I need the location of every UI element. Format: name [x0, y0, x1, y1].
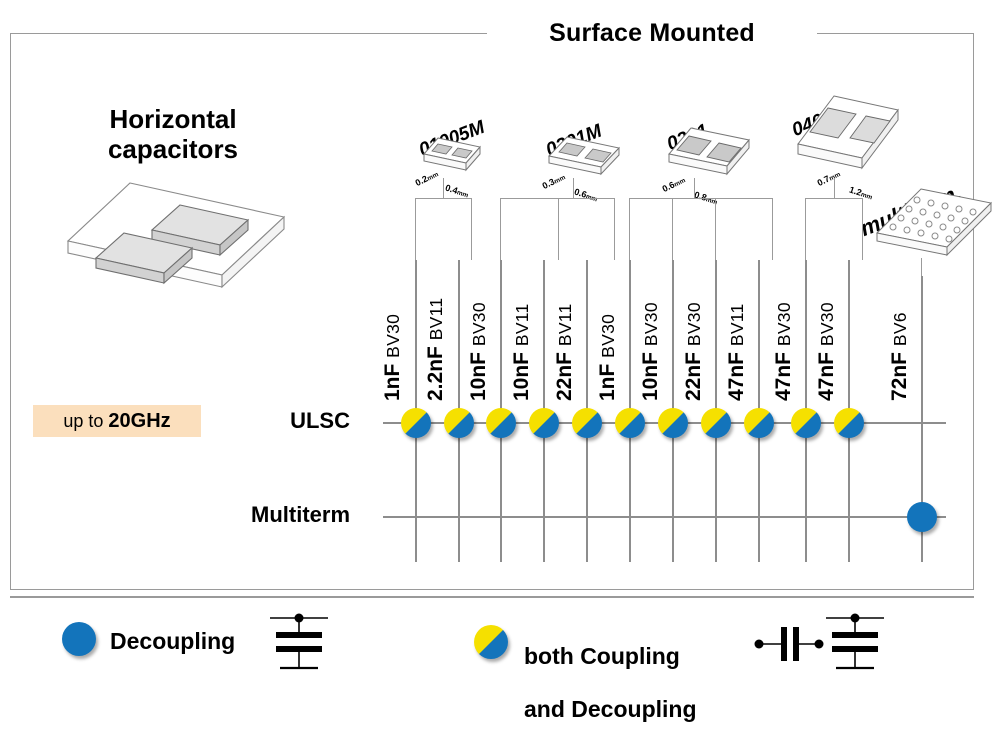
package-illustration-0201M: [545, 131, 629, 177]
legend-label-decoupling: Decoupling: [110, 628, 235, 654]
column-label-8: 22nF BV30: [683, 302, 704, 401]
bracket-01005M: [415, 198, 472, 260]
column-series-7: BV30: [641, 302, 661, 346]
column-value-8: 22nF: [682, 352, 705, 401]
column-value-10: 47nF: [772, 352, 795, 401]
bracket-0402: [805, 198, 863, 260]
column-value-9: 47nF: [725, 352, 748, 401]
legend-marker-coupling-decoupling: [474, 625, 508, 659]
marker-ulsc-col-6[interactable]: [615, 408, 645, 438]
column-label-1: 1nF BV30: [382, 314, 403, 401]
column-label-2: 2.2nF BV11: [425, 298, 446, 401]
horizontal-capacitor-illustration: [52, 175, 302, 290]
left-panel-heading: Horizontal capacitors: [58, 105, 288, 164]
shunt-capacitor-symbol-2: [824, 608, 886, 678]
column-value-4: 10nF: [510, 352, 533, 401]
column-series-6: BV30: [598, 314, 618, 358]
column-label-10: 47nF BV30: [773, 302, 794, 401]
marker-multiterm-col-12[interactable]: [907, 502, 937, 532]
bracket-stem-01005M: [443, 178, 444, 199]
column-label-3: 10nF BV30: [468, 302, 489, 401]
marker-ulsc-col-9[interactable]: [744, 408, 774, 438]
row-label-multiterm: Multiterm: [140, 502, 350, 528]
page-title: Surface Mounted: [487, 19, 817, 48]
bracket-stem-multiterm: [921, 258, 922, 276]
column-series-3: BV30: [469, 302, 489, 346]
column-label-6: 1nF BV30: [597, 314, 618, 401]
bracket-0201: [629, 198, 773, 260]
frequency-badge-prefix: up to: [63, 411, 103, 432]
bracket-stem-0201: [694, 178, 695, 199]
column-value-3: 10nF: [467, 352, 490, 401]
column-label-5: 22nF BV11: [554, 303, 575, 401]
bracket-divider-0201M: [558, 198, 559, 260]
column-label-4: 10nF BV11: [511, 303, 532, 401]
column-value-1: 1nF: [381, 364, 404, 401]
column-value-12: 72nF: [888, 352, 911, 401]
column-label-9: 47nF BV11: [726, 303, 747, 401]
column-series-8: BV30: [684, 302, 704, 346]
column-value-11: 47nF: [815, 352, 838, 401]
column-value-7: 10nF: [639, 352, 662, 401]
marker-ulsc-col-4[interactable]: [529, 408, 559, 438]
package-illustration-01005M: [418, 133, 490, 175]
marker-ulsc-col-11[interactable]: [834, 408, 864, 438]
marker-ulsc-col-2[interactable]: [444, 408, 474, 438]
series-capacitor-symbol: [754, 624, 824, 664]
package-illustration-0201: [665, 123, 760, 179]
marker-ulsc-col-1[interactable]: [401, 408, 431, 438]
package-illustration-0402: [790, 92, 908, 182]
column-series-12: BV6: [890, 312, 910, 346]
marker-ulsc-col-10[interactable]: [791, 408, 821, 438]
column-label-7: 10nF BV30: [640, 302, 661, 401]
legend-label-coupling-decoupling: both Coupling and Decoupling: [524, 617, 697, 749]
column-label-12: 72nF BV6: [889, 312, 910, 401]
legend-label-line2: and Decoupling: [524, 696, 697, 722]
left-panel-heading-line2: capacitors: [58, 135, 288, 165]
column-value-5: 22nF: [553, 352, 576, 401]
column-series-11: BV30: [817, 302, 837, 346]
legend-divider: [10, 596, 974, 598]
bracket-stem-0201M: [573, 178, 574, 199]
legend-marker-decoupling: [62, 622, 96, 656]
column-series-2: BV11: [426, 298, 446, 341]
column-value-2: 2.2nF: [424, 346, 447, 401]
package-illustration-multiterm: [875, 185, 995, 263]
marker-ulsc-col-3[interactable]: [486, 408, 516, 438]
bracket-divider-0201-a: [672, 198, 673, 260]
marker-ulsc-col-5[interactable]: [572, 408, 602, 438]
shunt-capacitor-symbol: [268, 608, 330, 678]
column-value-6: 1nF: [596, 364, 619, 401]
column-series-9: BV11: [727, 303, 747, 346]
bracket-divider-0201-b: [715, 198, 716, 260]
column-series-10: BV30: [774, 302, 794, 346]
column-series-4: BV11: [512, 303, 532, 346]
legend-label-line1: both Coupling: [524, 643, 697, 669]
row-label-ulsc: ULSC: [140, 408, 350, 434]
left-panel-heading-line1: Horizontal: [58, 105, 288, 135]
column-series-5: BV11: [555, 303, 575, 346]
marker-ulsc-col-8[interactable]: [701, 408, 731, 438]
marker-ulsc-col-7[interactable]: [658, 408, 688, 438]
column-label-11: 47nF BV30: [816, 302, 837, 401]
bracket-stem-0402: [834, 178, 835, 199]
column-series-1: BV30: [383, 314, 403, 358]
row-line-multiterm: [383, 516, 946, 518]
